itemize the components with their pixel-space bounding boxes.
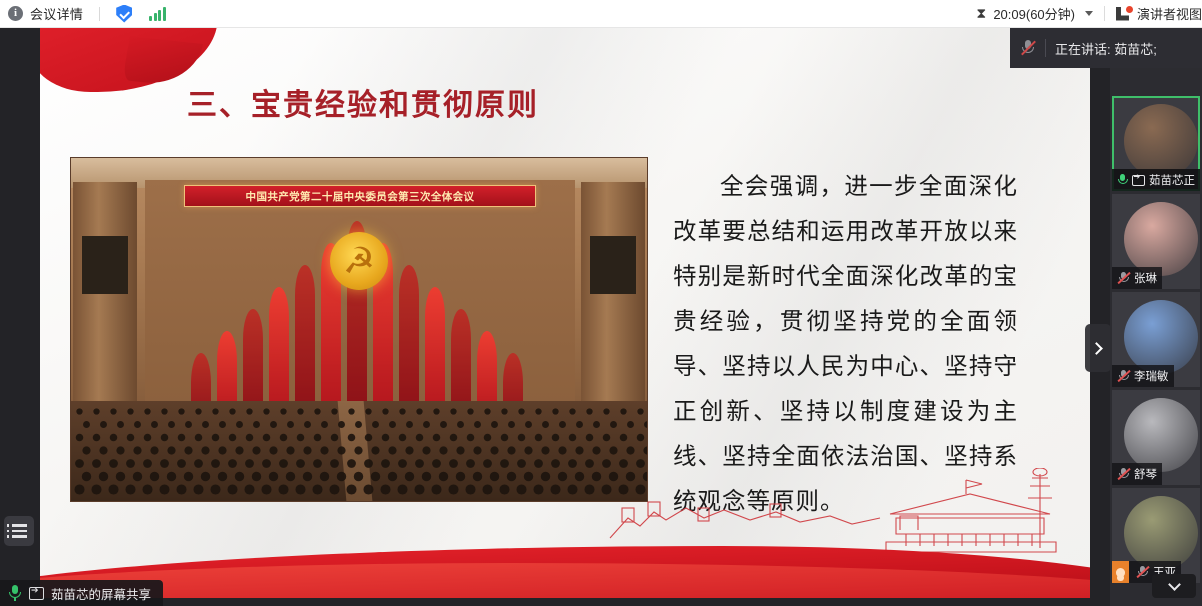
avatar [1124, 496, 1198, 570]
mic-on-icon[interactable] [1117, 174, 1128, 187]
participant-tiles: 茹苗芯正张琳李瑞敏舒琴王亚 [1110, 96, 1202, 586]
mic-on-icon[interactable] [8, 585, 22, 601]
participant-tile[interactable]: 王亚 [1112, 488, 1200, 583]
toolbar-divider [99, 7, 100, 21]
toolbar-left-group: i 会议详情 [0, 4, 166, 23]
presenter-view-label[interactable]: 演讲者视图 [1137, 4, 1202, 23]
active-speaker-label: 正在讲话: 茹苗芯; [1055, 39, 1157, 58]
avatar [1124, 398, 1198, 472]
meeting-window: i 会议详情 ⧗ 20:09(60分钟) 演讲者视图 三、宝贵经验和贯彻原则 [0, 0, 1202, 606]
timer-text: 20:09(60分钟) [993, 4, 1075, 23]
top-toolbar: i 会议详情 ⧗ 20:09(60分钟) 演讲者视图 [0, 0, 1202, 28]
participant-name: 张琳 [1134, 270, 1157, 286]
participant-footer: 舒琴 [1112, 463, 1162, 485]
screen-share-icon [29, 587, 44, 600]
toolbar-divider-2 [1104, 6, 1105, 21]
audience-seating [71, 401, 647, 501]
stage-letterbox-right [1090, 28, 1110, 606]
mic-muted-icon[interactable] [1020, 39, 1036, 57]
meeting-details-label[interactable]: 会议详情 [30, 4, 83, 23]
shared-screen-stage: 三、宝贵经验和贯彻原则 中国共产党第二十届中央委员会第三次全体会议 全会强调，进… [0, 28, 1110, 606]
screen-share-label: 茹苗芯的屏幕共享 [51, 584, 151, 603]
photo-banner-text: 中国共产党第二十届中央委员会第三次全体会议 [184, 185, 536, 207]
toolbar-right-group: ⧗ 20:09(60分钟) 演讲者视图 [976, 4, 1202, 23]
participant-footer: 茹苗芯正 [1112, 169, 1200, 191]
participant-tile[interactable]: 舒琴 [1112, 390, 1200, 485]
participant-tile[interactable]: 张琳 [1112, 194, 1200, 289]
avatar [1124, 104, 1198, 178]
slide-title: 三、宝贵经验和贯彻原则 [187, 80, 539, 124]
host-badge-icon [1112, 561, 1129, 583]
active-speaker-bar: 正在讲话: 茹苗芯; [1010, 28, 1202, 68]
participant-name: 李瑞敏 [1134, 368, 1169, 384]
avatar [1124, 300, 1198, 374]
screen-share-icon [1132, 175, 1145, 186]
info-icon[interactable]: i [8, 6, 23, 21]
mic-muted-icon[interactable] [1117, 272, 1130, 285]
party-emblem-icon [330, 232, 388, 290]
chevron-down-icon [1168, 578, 1181, 591]
mic-muted-icon[interactable] [1117, 370, 1130, 383]
presentation-slide: 三、宝贵经验和贯彻原则 中国共产党第二十届中央委员会第三次全体会议 全会强调，进… [40, 28, 1090, 598]
list-view-icon[interactable] [4, 516, 34, 546]
shield-check-icon[interactable] [116, 5, 132, 23]
hourglass-icon: ⧗ [976, 6, 987, 21]
screen-share-status-bar: 茹苗芯的屏幕共享 [0, 580, 163, 606]
participant-tile[interactable]: 茹苗芯正 [1112, 96, 1200, 191]
mic-muted-icon[interactable] [1117, 468, 1130, 481]
participant-footer: 李瑞敏 [1112, 365, 1174, 387]
great-wall-tiananmen-line-art [600, 468, 1070, 556]
participant-footer: 张琳 [1112, 267, 1162, 289]
participant-name: 茹苗芯正 [1149, 172, 1195, 188]
mic-muted-icon[interactable] [1136, 566, 1149, 579]
presenter-view-icon[interactable] [1116, 6, 1133, 22]
avatar [1124, 202, 1198, 276]
panel-scroll-down-button[interactable] [1152, 574, 1196, 598]
participant-tile[interactable]: 李瑞敏 [1112, 292, 1200, 387]
participants-panel: 茹苗芯正张琳李瑞敏舒琴王亚 [1110, 28, 1202, 606]
signal-strength-icon[interactable] [149, 7, 166, 21]
conference-photo: 中国共产党第二十届中央委员会第三次全体会议 [70, 157, 648, 502]
chevron-right-icon[interactable] [1085, 324, 1110, 372]
meeting-timer[interactable]: ⧗ 20:09(60分钟) [976, 4, 1093, 23]
chevron-down-icon[interactable] [1085, 11, 1093, 16]
participant-name: 舒琴 [1134, 466, 1157, 482]
